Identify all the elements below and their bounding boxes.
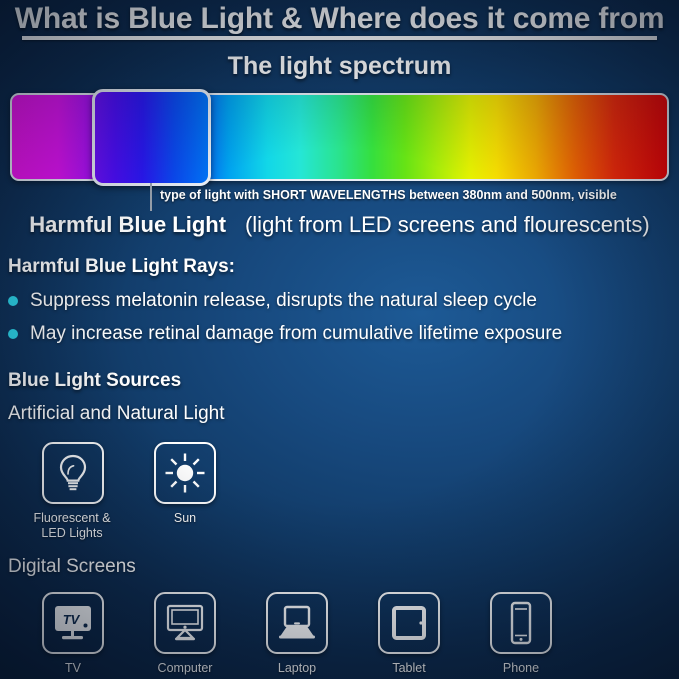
list-item: Suppress melatonin release, disrupts the… (8, 290, 537, 312)
phone-icon (506, 601, 536, 645)
source-tile-tv: TV (42, 592, 104, 654)
header: What is Blue Light & Where does it come … (0, 2, 679, 36)
digital-screens-group-label: Digital Screens (8, 556, 136, 578)
source-tile-computer (154, 592, 216, 654)
infographic-root: What is Blue Light & Where does it come … (0, 0, 679, 679)
harmful-blue-light-parenthetical: (light from LED screens and flourescents… (245, 212, 650, 237)
source-label-line-1: Sun (125, 511, 245, 526)
light-bulb-icon (55, 453, 91, 493)
desktop-computer-icon (164, 603, 206, 643)
svg-text:TV: TV (63, 612, 81, 627)
harmful-blue-light-headline: Harmful Blue Light (light from LED scree… (0, 212, 679, 238)
bullet-dot-icon (8, 329, 18, 339)
blue-light-highlight-box (92, 89, 211, 186)
source-tile-tablet (378, 592, 440, 654)
natural-light-group-label: Artificial and Natural Light (8, 403, 225, 425)
blue-light-sources-heading: Blue Light Sources (8, 370, 181, 392)
source-label-line-2: LED Lights (12, 526, 132, 541)
source-label-laptop: Laptop (237, 661, 357, 676)
source-label-sun: Sun (125, 511, 245, 526)
source-label-tv: TV (13, 661, 133, 676)
callout-connector-line (150, 183, 152, 211)
source-label-line-1: Fluorescent & (12, 511, 132, 526)
source-label-phone: Phone (461, 661, 581, 676)
tablet-icon (390, 604, 428, 642)
spectrum-callout-text: type of light with SHORT WAVELENGTHS bet… (160, 188, 617, 202)
subtitle: The light spectrum (0, 52, 679, 81)
harmful-ray-item-1: Suppress melatonin release, disrupts the… (30, 290, 537, 312)
title-underline (22, 36, 657, 40)
list-item: May increase retinal damage from cumulat… (8, 323, 562, 345)
harmful-rays-heading: Harmful Blue Light Rays: (8, 256, 235, 278)
source-tile-laptop (266, 592, 328, 654)
harmful-ray-item-2: May increase retinal damage from cumulat… (30, 323, 562, 345)
source-label-computer: Computer (125, 661, 245, 676)
source-label-tablet: Tablet (349, 661, 469, 676)
harmful-blue-light-label: Harmful Blue Light (29, 212, 226, 237)
page-title: What is Blue Light & Where does it come … (0, 2, 679, 36)
tv-icon: TV (52, 603, 94, 643)
sun-icon (164, 452, 206, 494)
bullet-dot-icon (8, 296, 18, 306)
laptop-icon (275, 604, 319, 642)
source-tile-fluorescent-led (42, 442, 104, 504)
source-tile-phone (490, 592, 552, 654)
source-tile-sun (154, 442, 216, 504)
source-label-fluorescent-led: Fluorescent & LED Lights (12, 511, 132, 541)
